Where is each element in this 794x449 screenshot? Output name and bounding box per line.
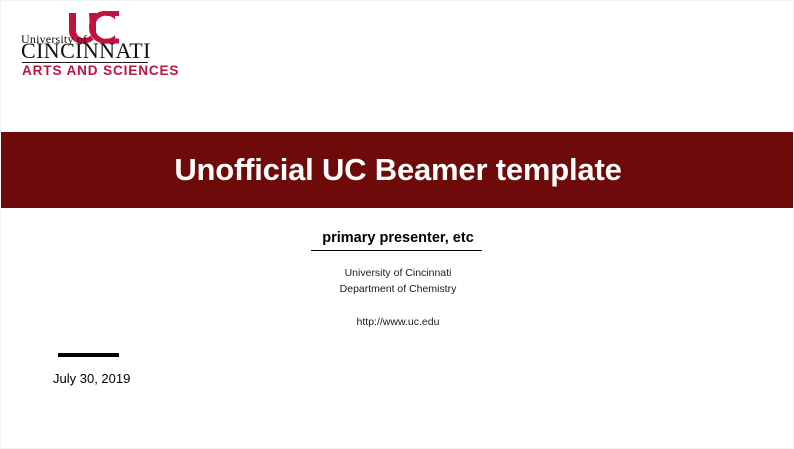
presentation-title: Unofficial UC Beamer template — [174, 153, 621, 187]
institute-block: University of Cincinnati Department of C… — [1, 265, 794, 298]
logo-college-text: ARTS AND SCIENCES — [22, 64, 179, 79]
presentation-date: July 30, 2019 — [53, 371, 130, 386]
uc-arts-and-sciences-logo: University of CINCINNATI ARTS AND SCIENC… — [13, 9, 193, 81]
title-slide: University of CINCINNATI ARTS AND SCIENC… — [0, 0, 794, 449]
date-rule — [58, 353, 119, 357]
institute-url[interactable]: http://www.uc.edu — [1, 316, 794, 328]
author-name: primary presenter, etc — [1, 230, 794, 246]
title-band: Unofficial UC Beamer template — [1, 132, 794, 208]
logo-cincinnati-text: CINCINNATI — [21, 39, 151, 62]
institute-line-2: Department of Chemistry — [1, 281, 794, 297]
institute-line-1: University of Cincinnati — [1, 265, 794, 281]
author-underline-rule — [311, 250, 482, 251]
